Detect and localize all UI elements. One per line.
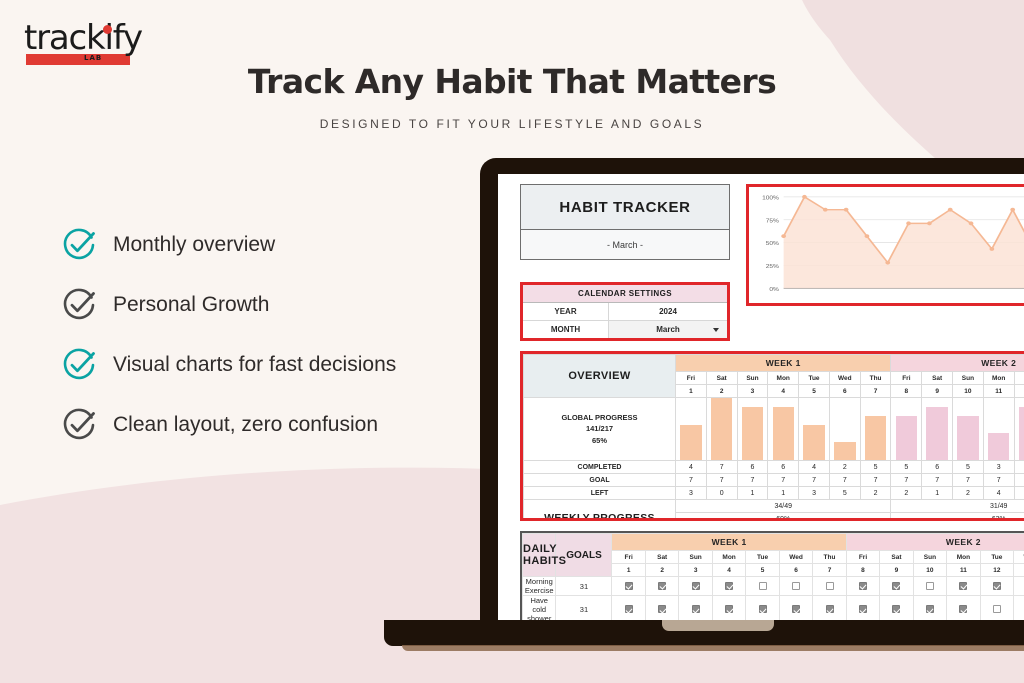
day-bar-cell [1014, 398, 1024, 461]
day-bar [711, 398, 732, 460]
daily-habits-panel: DAILY HABITSGOALSWEEK 1WEEK 2WEEK 3WEEK … [520, 531, 1024, 620]
habit-check-cell[interactable] [913, 577, 946, 596]
habit-check-cell[interactable] [645, 577, 678, 596]
day-of-week: Thu [860, 372, 891, 385]
day-bar-track [738, 398, 768, 460]
stat-value: 7 [706, 474, 737, 487]
stat-value: 7 [829, 474, 860, 487]
day-of-week: Fri [891, 372, 922, 385]
day-of-week: Sun [737, 372, 768, 385]
day-of-week: Sat [880, 551, 913, 564]
day-bar [926, 407, 947, 460]
year-label: YEAR [523, 303, 609, 320]
day-of-week: Sun [953, 372, 984, 385]
habit-check-cell[interactable] [980, 596, 1013, 621]
day-number: 8 [846, 564, 879, 577]
stat-value: 4 [983, 487, 1014, 500]
week-header: WEEK 1 [612, 534, 846, 551]
page-title: Track Any Habit That Matters [0, 62, 1024, 101]
habit-check-cell[interactable] [880, 596, 913, 621]
day-number: 7 [813, 564, 846, 577]
day-of-week: Mon [983, 372, 1014, 385]
stat-value: 5 [860, 461, 891, 474]
feature-item: Personal Growth [62, 288, 396, 322]
day-bar-cell [953, 398, 984, 461]
global-progress-cell: GLOBAL PROGRESS141/21765% [524, 398, 676, 461]
progress-area-chart: 0%25%50%75%100% [753, 191, 1024, 301]
day-of-week: Fri [846, 551, 879, 564]
day-number: 4 [768, 385, 799, 398]
habit-checkbox[interactable] [926, 605, 934, 613]
day-number: 10 [913, 564, 946, 577]
habit-checkbox[interactable] [959, 605, 967, 613]
habit-check-cell[interactable] [779, 577, 812, 596]
stat-value: 1 [1014, 487, 1024, 500]
day-bar-track [861, 398, 891, 460]
day-bar-track [984, 398, 1014, 460]
day-bar [680, 425, 701, 460]
laptop-notch [662, 620, 774, 631]
habit-checkbox[interactable] [892, 582, 900, 590]
brand-logo: trackify LAB [24, 18, 154, 68]
laptop-shadow [402, 645, 1024, 651]
day-bar [1019, 407, 1024, 460]
stat-value: 3 [676, 487, 707, 500]
feature-label: Personal Growth [113, 293, 269, 317]
logo-dot-icon [103, 25, 112, 34]
stat-value: 7 [799, 474, 830, 487]
habit-check-cell[interactable] [712, 596, 745, 621]
day-bar [803, 425, 824, 460]
day-bar-cell [860, 398, 891, 461]
habit-check-cell[interactable] [746, 577, 779, 596]
stat-value: 1 [737, 487, 768, 500]
overview-week-header-row: OVERVIEWWEEK 1WEEK 2WEEK 3WEEK 4 [524, 355, 1024, 372]
day-number: 9 [880, 564, 913, 577]
stat-value: 3 [799, 487, 830, 500]
stat-value: 7 [983, 474, 1014, 487]
month-select[interactable]: March [609, 321, 727, 338]
day-number: 6 [779, 564, 812, 577]
day-of-week: Sat [922, 372, 953, 385]
day-number: 2 [645, 564, 678, 577]
check-circle-icon [62, 228, 96, 262]
stat-value: 5 [829, 487, 860, 500]
day-bar [896, 416, 917, 460]
habit-checkbox[interactable] [993, 582, 1001, 590]
habit-checkbox[interactable] [926, 582, 934, 590]
day-number: 3 [737, 385, 768, 398]
stat-value: 2 [829, 461, 860, 474]
check-circle-icon [62, 288, 96, 322]
calendar-settings-heading: CALENDAR SETTINGS [523, 285, 727, 303]
habit-check-cell[interactable] [712, 577, 745, 596]
habit-check-cell[interactable] [1014, 596, 1024, 621]
svg-text:25%: 25% [766, 264, 780, 269]
stat-value: 3 [983, 461, 1014, 474]
day-of-week: Tue [746, 551, 779, 564]
day-number: 11 [947, 564, 980, 577]
habit-row: Morning Exercise31 [523, 577, 1024, 596]
daily-habits-table: DAILY HABITSGOALSWEEK 1WEEK 2WEEK 3WEEK … [522, 533, 1024, 620]
habit-checkbox[interactable] [725, 582, 733, 590]
day-bar-track [676, 398, 706, 460]
overview-stat-row: LEFT301135221241442442132433 [524, 487, 1024, 500]
day-of-week: Wed [779, 551, 812, 564]
stat-value: 2 [891, 487, 922, 500]
habit-check-cell[interactable] [612, 596, 645, 621]
habit-checkbox[interactable] [859, 582, 867, 590]
stat-value: 1 [768, 487, 799, 500]
feature-label: Clean layout, zero confusion [113, 413, 378, 437]
stat-value: 5 [953, 461, 984, 474]
feature-label: Monthly overview [113, 233, 275, 257]
habit-checkbox[interactable] [959, 582, 967, 590]
day-number: 3 [679, 564, 712, 577]
day-bar-track [953, 398, 983, 460]
day-bar-cell [983, 398, 1014, 461]
week-header: WEEK 1 [676, 355, 891, 372]
habit-check-cell[interactable] [779, 596, 812, 621]
day-bar [957, 416, 978, 460]
day-number: 5 [799, 385, 830, 398]
habit-check-cell[interactable] [679, 596, 712, 621]
feature-list: Monthly overviewPersonal GrowthVisual ch… [62, 228, 396, 442]
habit-checkbox[interactable] [658, 582, 666, 590]
habit-checkbox[interactable] [826, 582, 834, 590]
day-bar-cell [737, 398, 768, 461]
svg-text:100%: 100% [762, 196, 780, 201]
habit-goal: 31 [556, 577, 612, 596]
day-of-week: Wed [1014, 551, 1024, 564]
day-number: 10 [953, 385, 984, 398]
stat-value: 4 [676, 461, 707, 474]
weekly-progress-label: WEEKLY PROGRESS [524, 500, 676, 522]
sheet-title-block: HABIT TRACKER - March - [520, 184, 730, 260]
day-number: 8 [891, 385, 922, 398]
check-circle-icon [62, 408, 96, 442]
day-of-week: Tue [799, 372, 830, 385]
stat-value: 6 [768, 461, 799, 474]
day-of-week: Mon [712, 551, 745, 564]
title-and-settings-column: HABIT TRACKER - March - CALENDAR SETTING… [520, 184, 730, 341]
day-bar-track [891, 398, 921, 460]
day-bar-track [707, 398, 737, 460]
day-number: 5 [746, 564, 779, 577]
day-number: 6 [829, 385, 860, 398]
stat-value: 7 [676, 474, 707, 487]
weekly-percent: 63% [891, 513, 1024, 522]
habit-checkbox[interactable] [625, 605, 633, 613]
feature-item: Monthly overview [62, 228, 396, 262]
feature-item: Visual charts for fast decisions [62, 348, 396, 382]
day-of-week: Wed [829, 372, 860, 385]
habit-name: Morning Exercise [523, 577, 556, 596]
habit-check-cell[interactable] [947, 577, 980, 596]
laptop-screen: HABIT TRACKER - March - CALENDAR SETTING… [498, 174, 1024, 620]
day-of-week: Sun [913, 551, 946, 564]
logo-wordmark: trackify [24, 18, 154, 58]
day-bar-track [768, 398, 798, 460]
habit-checkbox[interactable] [892, 605, 900, 613]
habit-checkbox[interactable] [792, 582, 800, 590]
day-number: 2 [706, 385, 737, 398]
habit-check-cell[interactable] [679, 577, 712, 596]
day-bar-cell [799, 398, 830, 461]
stat-label: GOAL [524, 474, 676, 487]
check-circle-icon [62, 348, 96, 382]
stat-value: 7 [953, 474, 984, 487]
day-number: 12 [1014, 385, 1024, 398]
day-bar [773, 407, 794, 460]
overview-label: OVERVIEW [524, 355, 676, 398]
habit-check-cell[interactable] [880, 577, 913, 596]
day-number: 1 [676, 385, 707, 398]
day-of-week: Fri [612, 551, 645, 564]
habit-check-cell[interactable] [846, 596, 879, 621]
day-of-week: Mon [768, 372, 799, 385]
habit-check-cell[interactable] [947, 596, 980, 621]
habit-check-cell[interactable] [1014, 577, 1024, 596]
habit-checkbox[interactable] [692, 605, 700, 613]
calendar-month-row: MONTH March [523, 320, 727, 338]
habit-checkbox[interactable] [658, 605, 666, 613]
day-bar [988, 433, 1009, 460]
feature-item: Clean layout, zero confusion [62, 408, 396, 442]
day-bar-cell [922, 398, 953, 461]
day-bar [742, 407, 763, 460]
habit-checkbox[interactable] [826, 605, 834, 613]
svg-text:50%: 50% [766, 241, 780, 246]
stat-label: COMPLETED [524, 461, 676, 474]
habit-name: Have cold shower [523, 596, 556, 621]
stat-value: 2 [953, 487, 984, 500]
habit-checkbox[interactable] [692, 582, 700, 590]
week-header: WEEK 2 [891, 355, 1024, 372]
year-value[interactable]: 2024 [609, 303, 727, 320]
month-label: MONTH [523, 321, 609, 338]
headline-block: Track Any Habit That Matters DESIGNED TO… [0, 62, 1024, 131]
overview-panel: OVERVIEWWEEK 1WEEK 2WEEK 3WEEK 4FriSatSu… [520, 351, 1024, 521]
day-bar-track [799, 398, 829, 460]
day-number: 1 [612, 564, 645, 577]
logo-sub-label: LAB [84, 54, 102, 62]
stat-value: 6 [737, 461, 768, 474]
day-of-week: Tue [1014, 372, 1024, 385]
stat-value: 7 [706, 461, 737, 474]
day-bar [834, 442, 855, 460]
habit-checkbox[interactable] [759, 605, 767, 613]
day-bar-track [1015, 398, 1024, 460]
weekly-progress-fraction-row: WEEKLY PROGRESS34/4931/4931/49 [524, 500, 1024, 513]
stat-value: 0 [706, 487, 737, 500]
day-bar-cell [768, 398, 799, 461]
stat-value: 7 [922, 474, 953, 487]
overview-stat-row: COMPLETED476642556536335335645344 [524, 461, 1024, 474]
progress-area-chart-panel: 0%25%50%75%100% [746, 184, 1024, 306]
day-number: 12 [980, 564, 1013, 577]
habit-check-cell[interactable] [813, 577, 846, 596]
habit-checkbox[interactable] [792, 605, 800, 613]
habit-row: Have cold shower31 [523, 596, 1024, 621]
stat-value: 2 [860, 487, 891, 500]
habit-check-cell[interactable] [612, 577, 645, 596]
day-of-week: Sat [706, 372, 737, 385]
habit-checkbox[interactable] [759, 582, 767, 590]
overview-bars-row: GLOBAL PROGRESS141/21765% [524, 398, 1024, 461]
day-of-week: Fri [676, 372, 707, 385]
habit-checkbox[interactable] [725, 605, 733, 613]
area-chart-svg: 0%25%50%75%100% [753, 191, 1024, 301]
weekly-percent: 69% [676, 513, 891, 522]
overview-stat-row: GOAL777777777777777777777777 [524, 474, 1024, 487]
habit-check-cell[interactable] [846, 577, 879, 596]
stat-value: 6 [1014, 461, 1024, 474]
page-subtitle: DESIGNED TO FIT YOUR LIFESTYLE AND GOALS [0, 117, 1024, 131]
day-of-week: Sun [679, 551, 712, 564]
svg-text:75%: 75% [766, 219, 780, 224]
sheet-title: HABIT TRACKER [520, 184, 730, 230]
sheet-title-month: - March - [520, 230, 730, 260]
day-of-week: Thu [813, 551, 846, 564]
day-number: 9 [922, 385, 953, 398]
feature-label: Visual charts for fast decisions [113, 353, 396, 377]
habit-check-cell[interactable] [645, 596, 678, 621]
day-of-week: Sat [645, 551, 678, 564]
habit-check-cell[interactable] [813, 596, 846, 621]
habit-check-cell[interactable] [980, 577, 1013, 596]
day-bar-track [830, 398, 860, 460]
day-bar-track [922, 398, 952, 460]
month-value: March [656, 325, 680, 334]
habits-week-header-row: DAILY HABITSGOALSWEEK 1WEEK 2WEEK 3WEEK … [523, 534, 1024, 551]
habit-goal: 31 [556, 596, 612, 621]
stat-value: 7 [737, 474, 768, 487]
habit-check-cell[interactable] [746, 596, 779, 621]
stat-value: 7 [768, 474, 799, 487]
habit-checkbox[interactable] [993, 605, 1001, 613]
day-bar [865, 416, 886, 460]
overview-table: OVERVIEWWEEK 1WEEK 2WEEK 3WEEK 4FriSatSu… [523, 354, 1024, 521]
calendar-settings-panel: CALENDAR SETTINGS YEAR 2024 MONTH March [520, 282, 730, 341]
weekly-fraction: 34/49 [676, 500, 891, 513]
habits-header: DAILY HABITS [523, 534, 556, 577]
week-header: WEEK 2 [846, 534, 1024, 551]
stat-value: 5 [891, 461, 922, 474]
stat-value: 7 [860, 474, 891, 487]
day-bar-cell [891, 398, 922, 461]
stat-label: LEFT [524, 487, 676, 500]
weekly-fraction: 31/49 [891, 500, 1024, 513]
stat-value: 1 [922, 487, 953, 500]
spreadsheet-app: HABIT TRACKER - March - CALENDAR SETTING… [498, 174, 1024, 620]
habit-checkbox[interactable] [859, 605, 867, 613]
stat-value: 4 [799, 461, 830, 474]
day-number: 13 [1014, 564, 1024, 577]
day-number: 4 [712, 564, 745, 577]
day-number: 7 [860, 385, 891, 398]
day-number: 11 [983, 385, 1014, 398]
laptop-lid: HABIT TRACKER - March - CALENDAR SETTING… [480, 158, 1024, 620]
day-bar-cell [706, 398, 737, 461]
habit-checkbox[interactable] [625, 582, 633, 590]
habit-check-cell[interactable] [913, 596, 946, 621]
calendar-year-row: YEAR 2024 [523, 303, 727, 320]
stat-value: 7 [1014, 474, 1024, 487]
day-of-week: Mon [947, 551, 980, 564]
day-of-week: Tue [980, 551, 1013, 564]
day-bar-cell [829, 398, 860, 461]
day-bar-cell [676, 398, 707, 461]
stat-value: 6 [922, 461, 953, 474]
svg-text:0%: 0% [769, 287, 779, 292]
chevron-down-icon [713, 328, 719, 332]
stat-value: 7 [891, 474, 922, 487]
